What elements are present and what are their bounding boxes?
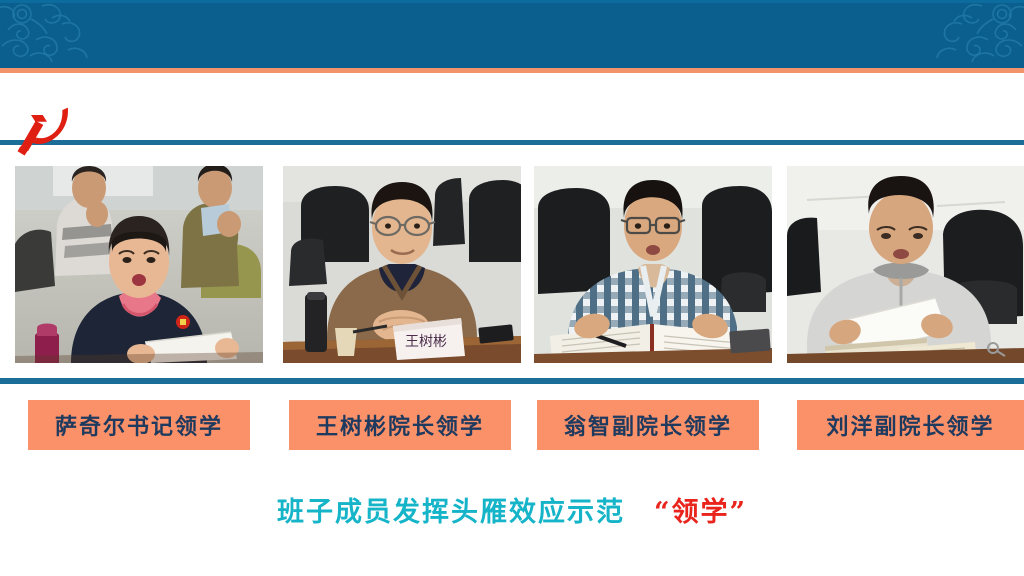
divider-line-top	[0, 140, 1024, 145]
footer-title-part2: “领学”	[654, 497, 747, 528]
caption-label-2: 王树彬院长领学	[316, 409, 484, 441]
svg-text:王树彬: 王树彬	[405, 334, 447, 350]
footer-title-part1: 班子成员发挥头雁效应示范	[277, 497, 654, 528]
caption-box-2[interactable]: 王树彬院长领学	[289, 400, 511, 450]
photo-1-image	[15, 166, 263, 363]
photo-row: 王树彬	[0, 166, 1024, 363]
caption-box-3[interactable]: 翁智副院长领学	[537, 400, 759, 450]
caption-box-1[interactable]: 萨奇尔书记领学	[28, 400, 250, 450]
photo-3-image	[534, 166, 772, 363]
caption-row: 萨奇尔书记领学 王树彬院长领学 翁智副院长领学 刘洋副院长领学	[0, 400, 1024, 450]
ccp-hammer-sickle-emblem-icon	[16, 104, 78, 158]
slide-root: 王树彬	[0, 0, 1024, 576]
photo-2-image: 王树彬	[283, 166, 521, 363]
header-ornament-left-icon	[0, 0, 110, 68]
photo-4[interactable]	[787, 166, 1024, 363]
photo-2[interactable]: 王树彬	[283, 166, 521, 363]
photo-1[interactable]	[15, 166, 263, 363]
footer-title: 班子成员发挥头雁效应示范 “领学”	[0, 490, 1024, 529]
caption-label-4: 刘洋副院长领学	[826, 409, 994, 441]
divider-line-bottom	[0, 378, 1024, 384]
header-ornament-right-icon	[914, 0, 1024, 68]
caption-box-4[interactable]: 刘洋副院长领学	[797, 400, 1024, 450]
header-accent-bar	[0, 68, 1024, 73]
photo-4-image	[787, 166, 1024, 363]
header-band	[0, 0, 1024, 68]
caption-label-1: 萨奇尔书记领学	[55, 409, 223, 441]
photo-3[interactable]	[534, 166, 772, 363]
caption-label-3: 翁智副院长领学	[564, 409, 732, 441]
